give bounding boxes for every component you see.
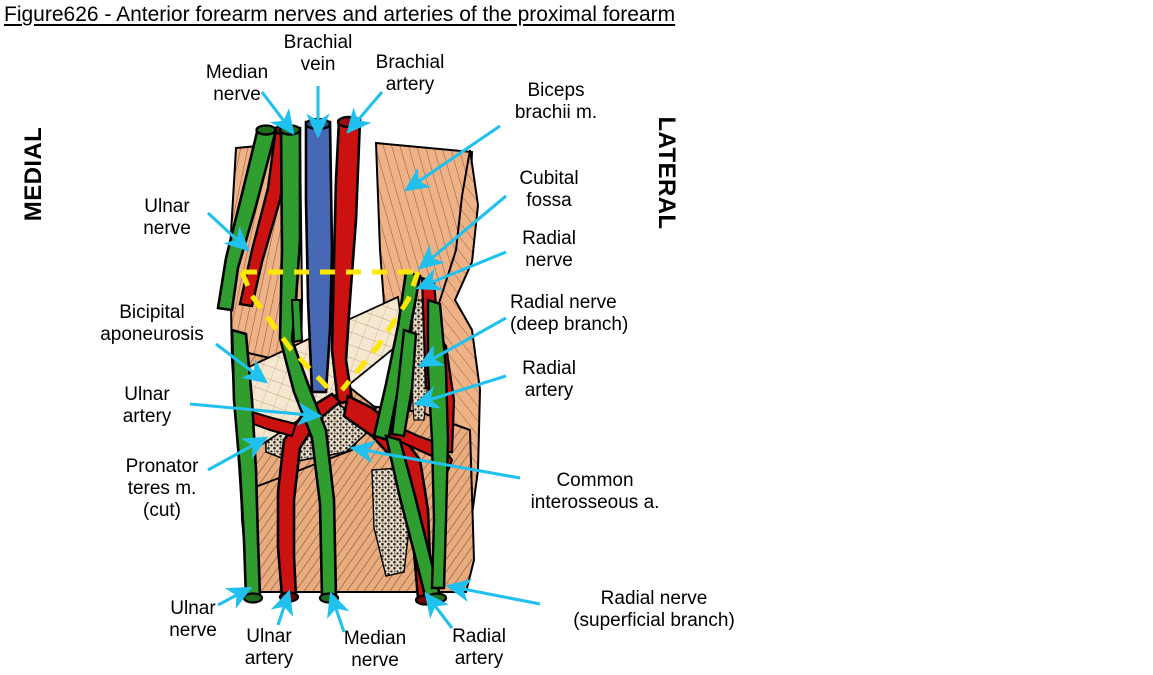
stump-ulnar-nerve: [244, 594, 262, 603]
stump-median-nerve: [320, 594, 338, 603]
label-radial-nerve-deep: Radial nerve (deep branch): [510, 292, 730, 336]
figure-root: Figure626 - Anterior forearm nerves and …: [0, 0, 1153, 675]
label-radial-artery-bottom: Radial artery: [436, 626, 522, 670]
label-ulnar-nerve: Ulnar nerve: [124, 196, 210, 240]
label-pronator-teres: Pronator teres m. (cut): [106, 456, 218, 522]
label-radial-nerve-superficial: Radial nerve (superficial branch): [520, 588, 788, 632]
cut-stump-caps-bottom: [244, 593, 446, 605]
label-biceps-brachii: Biceps brachii m.: [494, 80, 618, 124]
label-common-interosseous: Common interosseous a.: [500, 470, 690, 514]
label-median-nerve-top: Median nerve: [194, 62, 280, 106]
median-nerve-branch: [292, 300, 302, 342]
label-brachial-artery: Brachial artery: [362, 52, 458, 96]
label-radial-nerve: Radial nerve: [504, 228, 594, 272]
label-bicipital-aponeurosis: Bicipital aponeurosis: [84, 302, 220, 346]
arrow-brachial-artery: [348, 92, 382, 132]
label-ulnar-artery: Ulnar artery: [104, 384, 190, 428]
label-brachial-vein: Brachial vein: [272, 32, 364, 76]
label-radial-artery: Radial artery: [504, 358, 594, 402]
label-ulnar-nerve-bottom: Ulnar nerve: [150, 598, 236, 642]
label-ulnar-artery-bottom: Ulnar artery: [226, 626, 312, 670]
brachial-vein-vessel: [306, 119, 332, 392]
label-median-nerve-bottom: Median nerve: [330, 628, 420, 672]
label-cubital-fossa: Cubital fossa: [504, 168, 594, 212]
